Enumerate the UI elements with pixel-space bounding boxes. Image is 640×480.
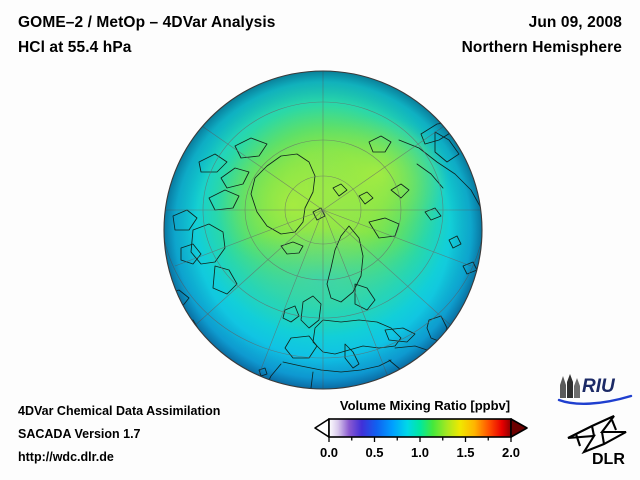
colorbar: Volume Mixing Ratio [ppbv] — [312, 398, 538, 463]
dlr-logo: DLR — [562, 410, 634, 468]
credit-line-version: SACADA Version 1.7 — [18, 427, 141, 441]
riu-wordmark: RIU — [582, 376, 616, 397]
colorbar-tick-4: 2.0 — [502, 445, 520, 460]
globe-map — [163, 70, 483, 390]
colorbar-left-cap — [315, 419, 329, 437]
colorbar-body — [329, 419, 511, 437]
colorbar-tick-labels: 0.0 0.5 1.0 1.5 2.0 — [312, 445, 538, 463]
credit-line-project: 4DVar Chemical Data Assimilation — [18, 404, 220, 418]
dlr-wordmark: DLR — [592, 451, 625, 468]
region-label: Northern Hemisphere — [462, 39, 622, 57]
colorbar-tick-1: 0.5 — [365, 445, 383, 460]
colorbar-right-cap — [511, 419, 527, 437]
colorbar-gradient — [312, 417, 538, 443]
page-title: GOME–2 / MetOp – 4DVar Analysis — [18, 14, 276, 32]
date-label: Jun 09, 2008 — [529, 14, 622, 32]
colorbar-title: Volume Mixing Ratio [ppbv] — [312, 398, 538, 413]
colorbar-tick-2: 1.0 — [411, 445, 429, 460]
globe-shading — [164, 71, 482, 389]
riu-tower-icon — [560, 374, 580, 398]
dlr-bird-icon — [568, 416, 626, 452]
page-subtitle: HCl at 55.4 hPa — [18, 39, 132, 57]
riu-logo: RIU — [557, 372, 633, 406]
colorbar-tick-0: 0.0 — [320, 445, 338, 460]
credit-line-url[interactable]: http://wdc.dlr.de — [18, 450, 114, 464]
colorbar-tick-3: 1.5 — [456, 445, 474, 460]
visualization-page: GOME–2 / MetOp – 4DVar Analysis HCl at 5… — [0, 0, 640, 480]
